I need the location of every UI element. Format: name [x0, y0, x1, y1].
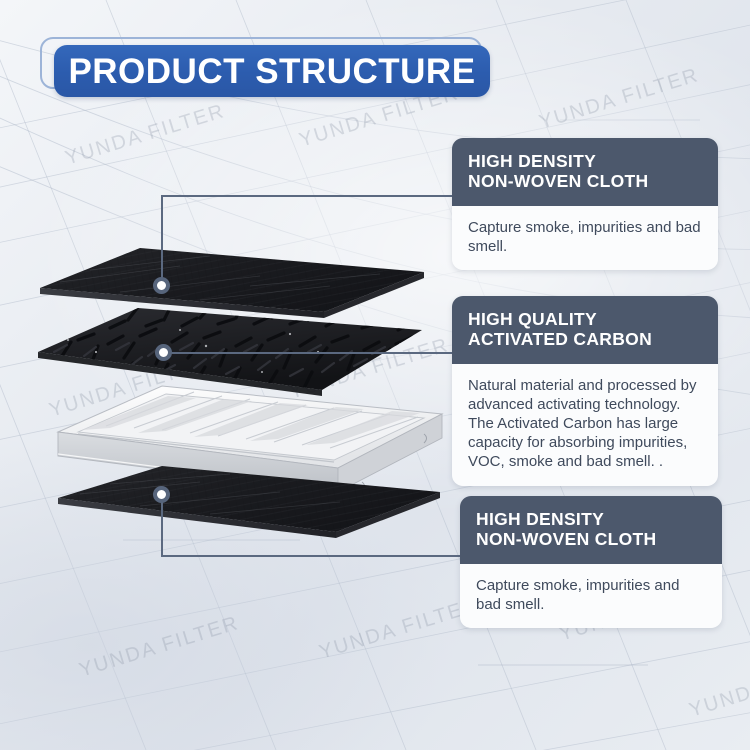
watermark: YUNDA FILTER — [77, 612, 242, 682]
layer-plastic-grid-frame — [58, 386, 442, 492]
watermark: YUNDA FILTER — [317, 594, 482, 664]
callout-heading-line-1: HIGH DENSITY — [468, 151, 702, 171]
callout-heading-line-1: HIGH QUALITY — [468, 309, 702, 329]
callout-body-text: Natural material and processed by advanc… — [468, 376, 702, 472]
callout-body: Capture smoke, impurities and bad smell. — [460, 564, 722, 628]
connector-dot-top-cloth — [153, 277, 170, 294]
callout-heading-line-2: ACTIVATED CARBON — [468, 329, 702, 349]
callout-heading-line-2: NON-WOVEN CLOTH — [476, 529, 706, 549]
callout-heading-line-1: HIGH DENSITY — [476, 509, 706, 529]
callout-body: Capture smoke, impurities and bad smell. — [452, 206, 718, 270]
callout-body: Natural material and processed by advanc… — [452, 364, 718, 486]
layer-top-non-woven-cloth — [40, 248, 424, 318]
watermark: YUNDA FILTER — [537, 64, 702, 134]
watermark: YUNDA FILTER — [47, 352, 212, 422]
callout-card-activated-carbon[interactable]: HIGH QUALITY ACTIVATED CARBON Natural ma… — [452, 296, 718, 486]
callout-header: HIGH QUALITY ACTIVATED CARBON — [452, 296, 718, 364]
layer-activated-carbon — [38, 304, 422, 396]
connector-dot-activated-carbon — [155, 344, 172, 361]
page-title-banner: PRODUCT STRUCTURE — [40, 37, 500, 99]
callout-card-top-non-woven-cloth[interactable]: HIGH DENSITY NON-WOVEN CLOTH Capture smo… — [452, 138, 718, 270]
callout-heading-line-2: NON-WOVEN CLOTH — [468, 171, 702, 191]
callout-body-text: Capture smoke, impurities and bad smell. — [468, 218, 702, 256]
exploded-filter-illustration — [0, 0, 460, 750]
watermark: YUNDA FILTER — [63, 100, 228, 170]
connector-dot-bottom-cloth — [153, 486, 170, 503]
title-plate: PRODUCT STRUCTURE — [54, 45, 490, 97]
watermark: YUNDA FILTER — [287, 334, 452, 404]
callout-header: HIGH DENSITY NON-WOVEN CLOTH — [452, 138, 718, 206]
watermark: YUNDA FILTER — [687, 652, 750, 722]
layer-bottom-non-woven-cloth — [58, 466, 440, 538]
callout-header: HIGH DENSITY NON-WOVEN CLOTH — [460, 496, 722, 564]
callout-body-text: Capture smoke, impurities and bad smell. — [476, 576, 706, 614]
callout-card-bottom-non-woven-cloth[interactable]: HIGH DENSITY NON-WOVEN CLOTH Capture smo… — [460, 496, 722, 628]
infographic-canvas: YUNDA FILTER YUNDA FILTER YUNDA FILTER Y… — [0, 0, 750, 750]
page-title: PRODUCT STRUCTURE — [68, 54, 475, 89]
